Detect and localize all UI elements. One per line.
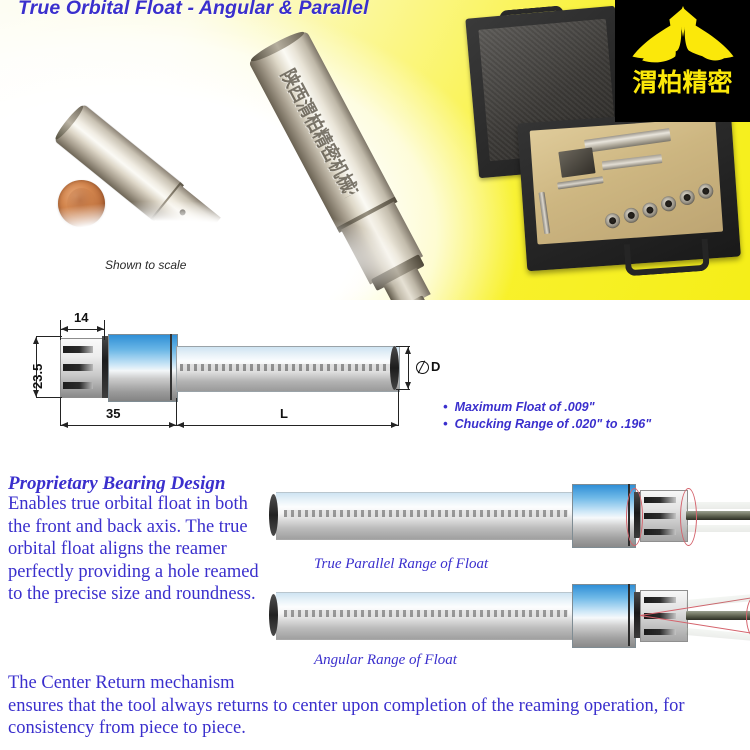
ext-line — [398, 390, 399, 426]
collet-slot — [63, 346, 93, 353]
page-title: True Orbital Float - Angular & Parallel — [18, 0, 369, 20]
collet-slot — [644, 497, 676, 503]
header-photo-band: Shown to scale 陕西渭柏精密机械有限公司 — [0, 0, 750, 300]
shown-to-scale-caption: Shown to scale — [105, 258, 186, 272]
dim-arrow — [169, 422, 176, 428]
dim-line-35 — [60, 425, 177, 426]
bullet-marker-icon: • — [443, 417, 448, 431]
angular-ghost-path — [686, 589, 750, 607]
spec-bullet-list: • Maximum Float of .009" • Chucking Rang… — [443, 400, 743, 434]
float-shank-knurl — [284, 610, 568, 617]
collet-slot — [644, 597, 676, 603]
dim-arrow — [391, 422, 398, 428]
diameter-symbol-icon — [416, 361, 429, 374]
case-insert-tray — [530, 118, 723, 245]
angular-float-caption: Angular Range of Float — [314, 652, 457, 669]
float-shank-end — [269, 494, 278, 536]
ext-line — [36, 397, 62, 398]
case-item-holder — [584, 128, 671, 153]
tool-body — [153, 185, 220, 251]
dim-label-14: 14 — [74, 310, 88, 325]
collet-slot — [644, 529, 676, 535]
case-collet — [642, 202, 658, 218]
dim-arrow — [405, 347, 411, 354]
tool-collet-tip — [222, 243, 248, 270]
case-collet — [679, 189, 695, 205]
ext-line — [396, 389, 410, 390]
case-item-rod — [539, 192, 551, 234]
parallel-float-caption: True Parallel Range of Float — [314, 556, 488, 573]
spec-bullet-item: • Chucking Range of .020" to .196" — [443, 417, 743, 431]
product-datasheet-page: Shown to scale 陕西渭柏精密机械有限公司 — [0, 0, 750, 750]
ext-line — [104, 320, 105, 340]
drawing-housing-seam — [170, 334, 172, 400]
spec-bullet-text: Maximum Float of .009" — [455, 400, 595, 414]
collet-slot — [644, 513, 676, 519]
dim-label-D: D — [431, 359, 440, 374]
large-tool-body — [341, 202, 423, 285]
float-shank-knurl — [284, 510, 568, 517]
dim-arrow — [61, 326, 68, 332]
float-housing — [572, 584, 636, 648]
parallel-float-diagram — [276, 480, 750, 552]
case-collet — [661, 196, 677, 212]
case-collet — [605, 213, 621, 229]
weibai-precision-logo: 渭柏精密 — [615, 0, 750, 122]
large-tool-photo: 陕西渭柏精密机械有限公司 — [15, 31, 457, 300]
drawing-shank-end — [390, 346, 399, 390]
dim-label-35: 35 — [106, 406, 120, 421]
case-base — [517, 109, 741, 272]
drawing-shank-knurl — [180, 364, 392, 371]
collet-slot — [644, 629, 676, 635]
dim-label-L: L — [280, 406, 288, 421]
drawing-float-housing — [108, 334, 178, 402]
dim-arrow — [405, 382, 411, 389]
case-item-block — [558, 147, 595, 177]
dimensioned-tool-drawing: 14 23.5 35 L D — [0, 298, 460, 448]
drawing-collet — [60, 338, 106, 398]
dim-label-23-5: 23.5 — [30, 364, 45, 389]
tool-collar — [202, 226, 231, 259]
bullet-marker-icon: • — [443, 400, 448, 414]
float-range-ellipse — [680, 488, 697, 546]
case-front-handle — [624, 239, 710, 277]
dim-arrow — [33, 390, 39, 397]
angular-float-diagram — [276, 580, 750, 652]
float-shank-end — [269, 594, 278, 636]
center-return-paragraph: The Center Return mechanism ensures that… — [8, 672, 748, 740]
dim-arrow — [97, 326, 104, 332]
logo-mark-icon — [624, 4, 742, 74]
dim-line-L — [176, 425, 399, 426]
feature-heading: Proprietary Bearing Design — [8, 473, 273, 495]
center-return-line1: The Center Return mechanism — [8, 672, 748, 695]
large-tool-ring — [336, 197, 397, 233]
dim-arrow — [61, 422, 68, 428]
float-reamer — [686, 611, 750, 620]
center-return-body: ensures that the tool always returns to … — [8, 695, 748, 740]
dim-arrow — [177, 422, 184, 428]
large-tool-collar — [371, 254, 425, 291]
case-item-bar — [557, 176, 604, 189]
case-item-wrench — [602, 154, 663, 170]
float-range-ellipse — [626, 488, 643, 546]
float-housing-seam — [628, 584, 630, 646]
large-tool-nose — [383, 268, 431, 300]
feature-body-text: Enables true orbital float in both the f… — [8, 493, 270, 606]
tool-nose — [197, 223, 240, 265]
ext-line — [36, 336, 62, 337]
dim-arrow — [33, 337, 39, 344]
spec-bullet-text: Chucking Range of .020" to .196" — [455, 417, 652, 431]
case-collet — [623, 207, 639, 223]
case-collet — [698, 183, 714, 199]
spec-bullet-item: • Maximum Float of .009" — [443, 400, 743, 414]
tool-set-screw-hole — [178, 208, 186, 216]
collet-slot — [63, 364, 93, 371]
collet-slot — [63, 382, 93, 389]
